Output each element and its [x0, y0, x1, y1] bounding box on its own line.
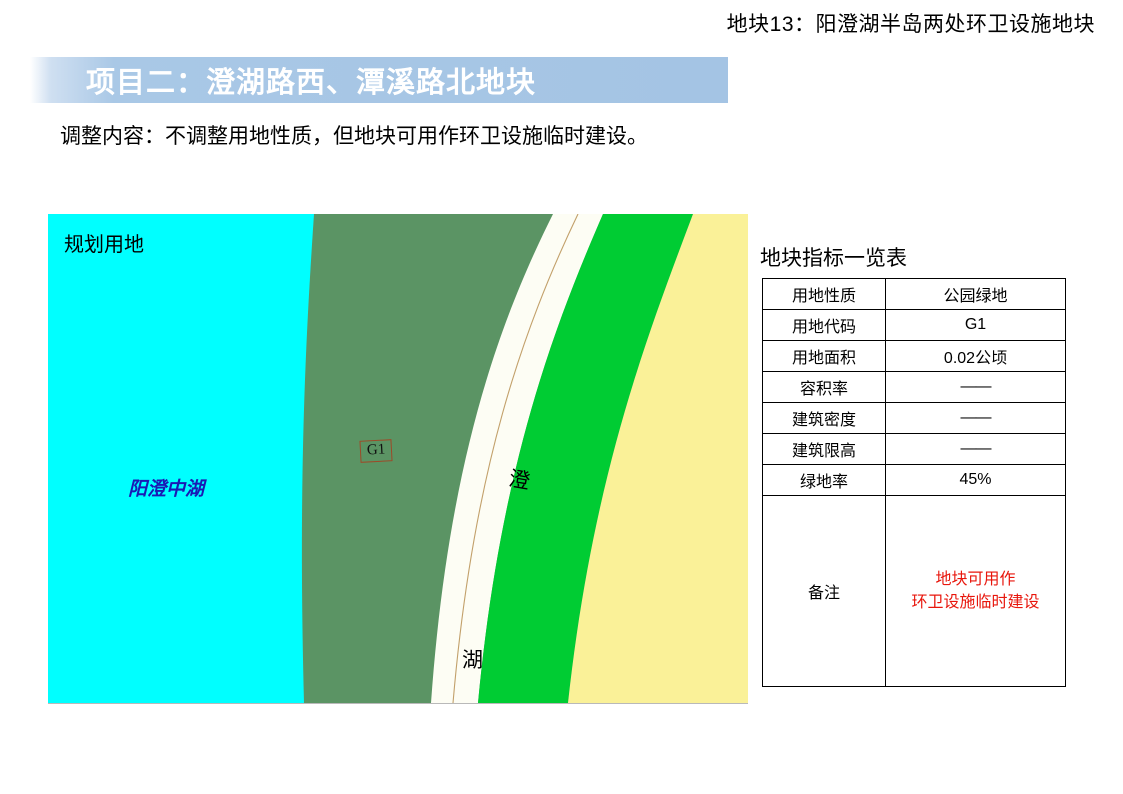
- map-parcel-code-marker: G1: [359, 439, 392, 463]
- table-row-remark: 备注 地块可用作 环卫设施临时建设: [763, 496, 1066, 687]
- map-road-label-char-1: 湖: [462, 644, 483, 674]
- table-row: 建筑限高 ——: [763, 434, 1066, 465]
- adjustment-content-note: 调整内容：不调整用地性质，但地块可用作环卫设施临时建设。: [60, 120, 648, 150]
- table-row: 用地性质 公园绿地: [763, 279, 1066, 310]
- remark-line-1: 地块可用作: [888, 568, 1063, 591]
- table-cell-value: 45%: [886, 465, 1066, 496]
- land-use-map: 规划用地 阳澄中湖 G1 澄 湖 路: [48, 214, 748, 704]
- remark-line-2: 环卫设施临时建设: [888, 591, 1063, 614]
- table-cell-value: 0.02公顷: [886, 341, 1066, 372]
- table-cell-label: 用地面积: [763, 341, 886, 372]
- table-cell-remark-value: 地块可用作 环卫设施临时建设: [886, 496, 1066, 687]
- indicator-table-body: 用地性质 公园绿地 用地代码 G1 用地面积 0.02公顷 容积率 —— 建筑密…: [763, 279, 1066, 687]
- table-row: 用地面积 0.02公顷: [763, 341, 1066, 372]
- table-row: 建筑密度 ——: [763, 403, 1066, 434]
- table-cell-value: ——: [886, 372, 1066, 403]
- map-planning-land-label: 规划用地: [64, 228, 144, 257]
- table-row: 容积率 ——: [763, 372, 1066, 403]
- map-svg: [48, 214, 748, 703]
- indicator-table: 用地性质 公园绿地 用地代码 G1 用地面积 0.02公顷 容积率 —— 建筑密…: [762, 278, 1066, 687]
- table-cell-value: 公园绿地: [886, 279, 1066, 310]
- table-cell-label: 用地性质: [763, 279, 886, 310]
- map-lake-label: 阳澄中湖: [128, 474, 204, 501]
- table-cell-value: G1: [886, 310, 1066, 341]
- table-cell-remark-label: 备注: [763, 496, 886, 687]
- table-cell-label: 绿地率: [763, 465, 886, 496]
- table-row: 用地代码 G1: [763, 310, 1066, 341]
- table-cell-label: 建筑限高: [763, 434, 886, 465]
- table-cell-label: 用地代码: [763, 310, 886, 341]
- section-title-text: 项目二：澄湖路西、潭溪路北地块: [86, 59, 536, 101]
- table-cell-value: ——: [886, 403, 1066, 434]
- indicator-table-title: 地块指标一览表: [760, 242, 907, 272]
- table-cell-label: 建筑密度: [763, 403, 886, 434]
- page-header-title: 地块13：阳澄湖半岛两处环卫设施地块: [727, 8, 1095, 38]
- section-title-banner: 项目二：澄湖路西、潭溪路北地块: [30, 57, 728, 103]
- table-row: 绿地率 45%: [763, 465, 1066, 496]
- table-cell-label: 容积率: [763, 372, 886, 403]
- table-cell-value: ——: [886, 434, 1066, 465]
